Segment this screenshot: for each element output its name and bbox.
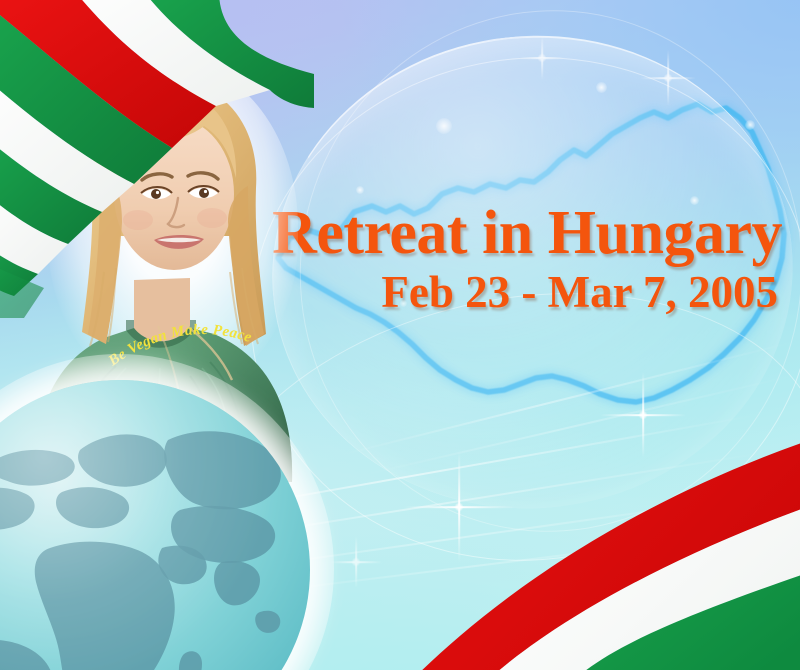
earth-globe-icon	[0, 380, 310, 670]
poster-canvas: Retreat in Hungary Feb 23 - Mar 7, 2005	[0, 0, 800, 670]
